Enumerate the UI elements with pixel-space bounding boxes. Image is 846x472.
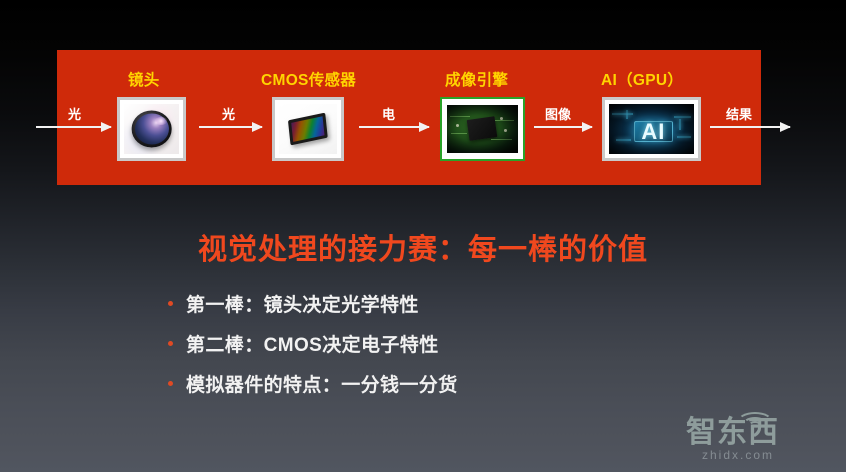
lens-glint-shape <box>155 117 167 125</box>
arrow-label-light-1: 光 <box>68 104 81 123</box>
stage-label-ai-gpu: AI（GPU） <box>601 68 683 90</box>
pcb-vignette <box>447 105 518 153</box>
thumb-imaging-engine <box>440 97 525 161</box>
arrow-light-1 <box>36 126 111 128</box>
cmos-sensor-surface <box>291 116 325 142</box>
arrow-label-electric: 电 <box>382 104 395 123</box>
thumb-cmos-sensor <box>272 97 344 161</box>
list-item-label: 第二棒：CMOS决定电子特性 <box>186 330 439 357</box>
arrow-light-2 <box>199 126 262 128</box>
bullet-dot-icon <box>168 381 173 386</box>
stage-label-imaging-engine: 成像引擎 <box>445 68 508 90</box>
imaging-engine-pcb-photo <box>447 105 518 153</box>
list-item-label: 模拟器件的特点：一分钱一分货 <box>186 370 458 397</box>
watermark: 智东西 zhidx.com <box>680 406 832 464</box>
bullet-dot-icon <box>168 341 173 346</box>
page-title: 视觉处理的接力赛：每一棒的价值 <box>0 226 846 268</box>
arrow-label-light-2: 光 <box>222 104 235 123</box>
ai-vignette <box>609 104 694 154</box>
thumb-ai-gpu: AI <box>602 97 701 161</box>
arrow-result <box>710 126 790 128</box>
arrow-label-image: 图像 <box>545 104 571 123</box>
ai-gpu-chip-photo: AI <box>609 104 694 154</box>
bullet-dot-icon <box>168 301 173 306</box>
slide-canvas: 镜头 CMOS传感器 成像引擎 AI（GPU） <box>0 0 846 472</box>
bullet-list: 第一棒：镜头决定光学特性 第二棒：CMOS决定电子特性 模拟器件的特点：一分钱一… <box>168 290 688 410</box>
stage-label-cmos: CMOS传感器 <box>261 68 356 90</box>
camera-lens-photo <box>124 104 179 154</box>
list-item: 模拟器件的特点：一分钱一分货 <box>168 370 688 397</box>
watermark-url: zhidx.com <box>702 448 774 462</box>
arrow-electric <box>359 126 429 128</box>
stage-label-lens: 镜头 <box>128 68 160 90</box>
cmos-chip-shape <box>288 113 328 146</box>
list-item: 第二棒：CMOS决定电子特性 <box>168 330 688 357</box>
thumb-camera-lens <box>117 97 186 161</box>
watermark-brand: 智东西 <box>686 418 779 448</box>
arrow-image <box>534 126 592 128</box>
arrow-label-result: 结果 <box>726 104 752 123</box>
list-item: 第一棒：镜头决定光学特性 <box>168 290 688 317</box>
list-item-label: 第一棒：镜头决定光学特性 <box>186 290 419 317</box>
cmos-sensor-photo <box>279 104 337 154</box>
